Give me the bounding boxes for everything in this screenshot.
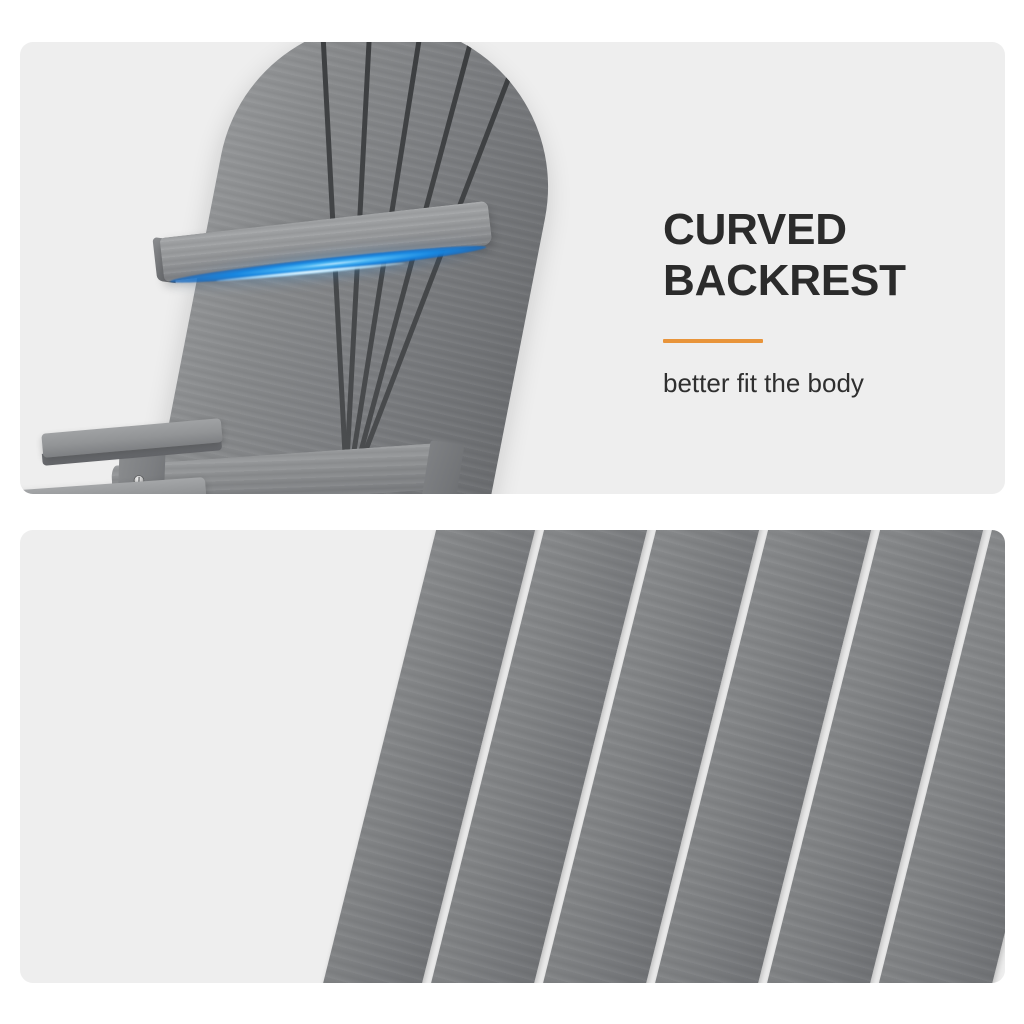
feature-subline: better fit the body — [663, 343, 993, 399]
infographic-page: CURVED BACKREST better fit the body — [0, 0, 1024, 1024]
feature-panel-wide-armrests: WIDE ARMRESTS for better arm relaxation — [20, 530, 1005, 983]
feature-headline-line1: CURVED — [663, 204, 993, 255]
backrest-slat-field — [450, 530, 1005, 983]
feature-panel-curved-backrest: CURVED BACKREST better fit the body — [20, 42, 1005, 494]
armrest-closeup-illustration — [20, 530, 1005, 983]
feature-headline-line2: BACKREST — [663, 255, 993, 306]
feature-copy-block: CURVED BACKREST better fit the body — [663, 204, 993, 399]
